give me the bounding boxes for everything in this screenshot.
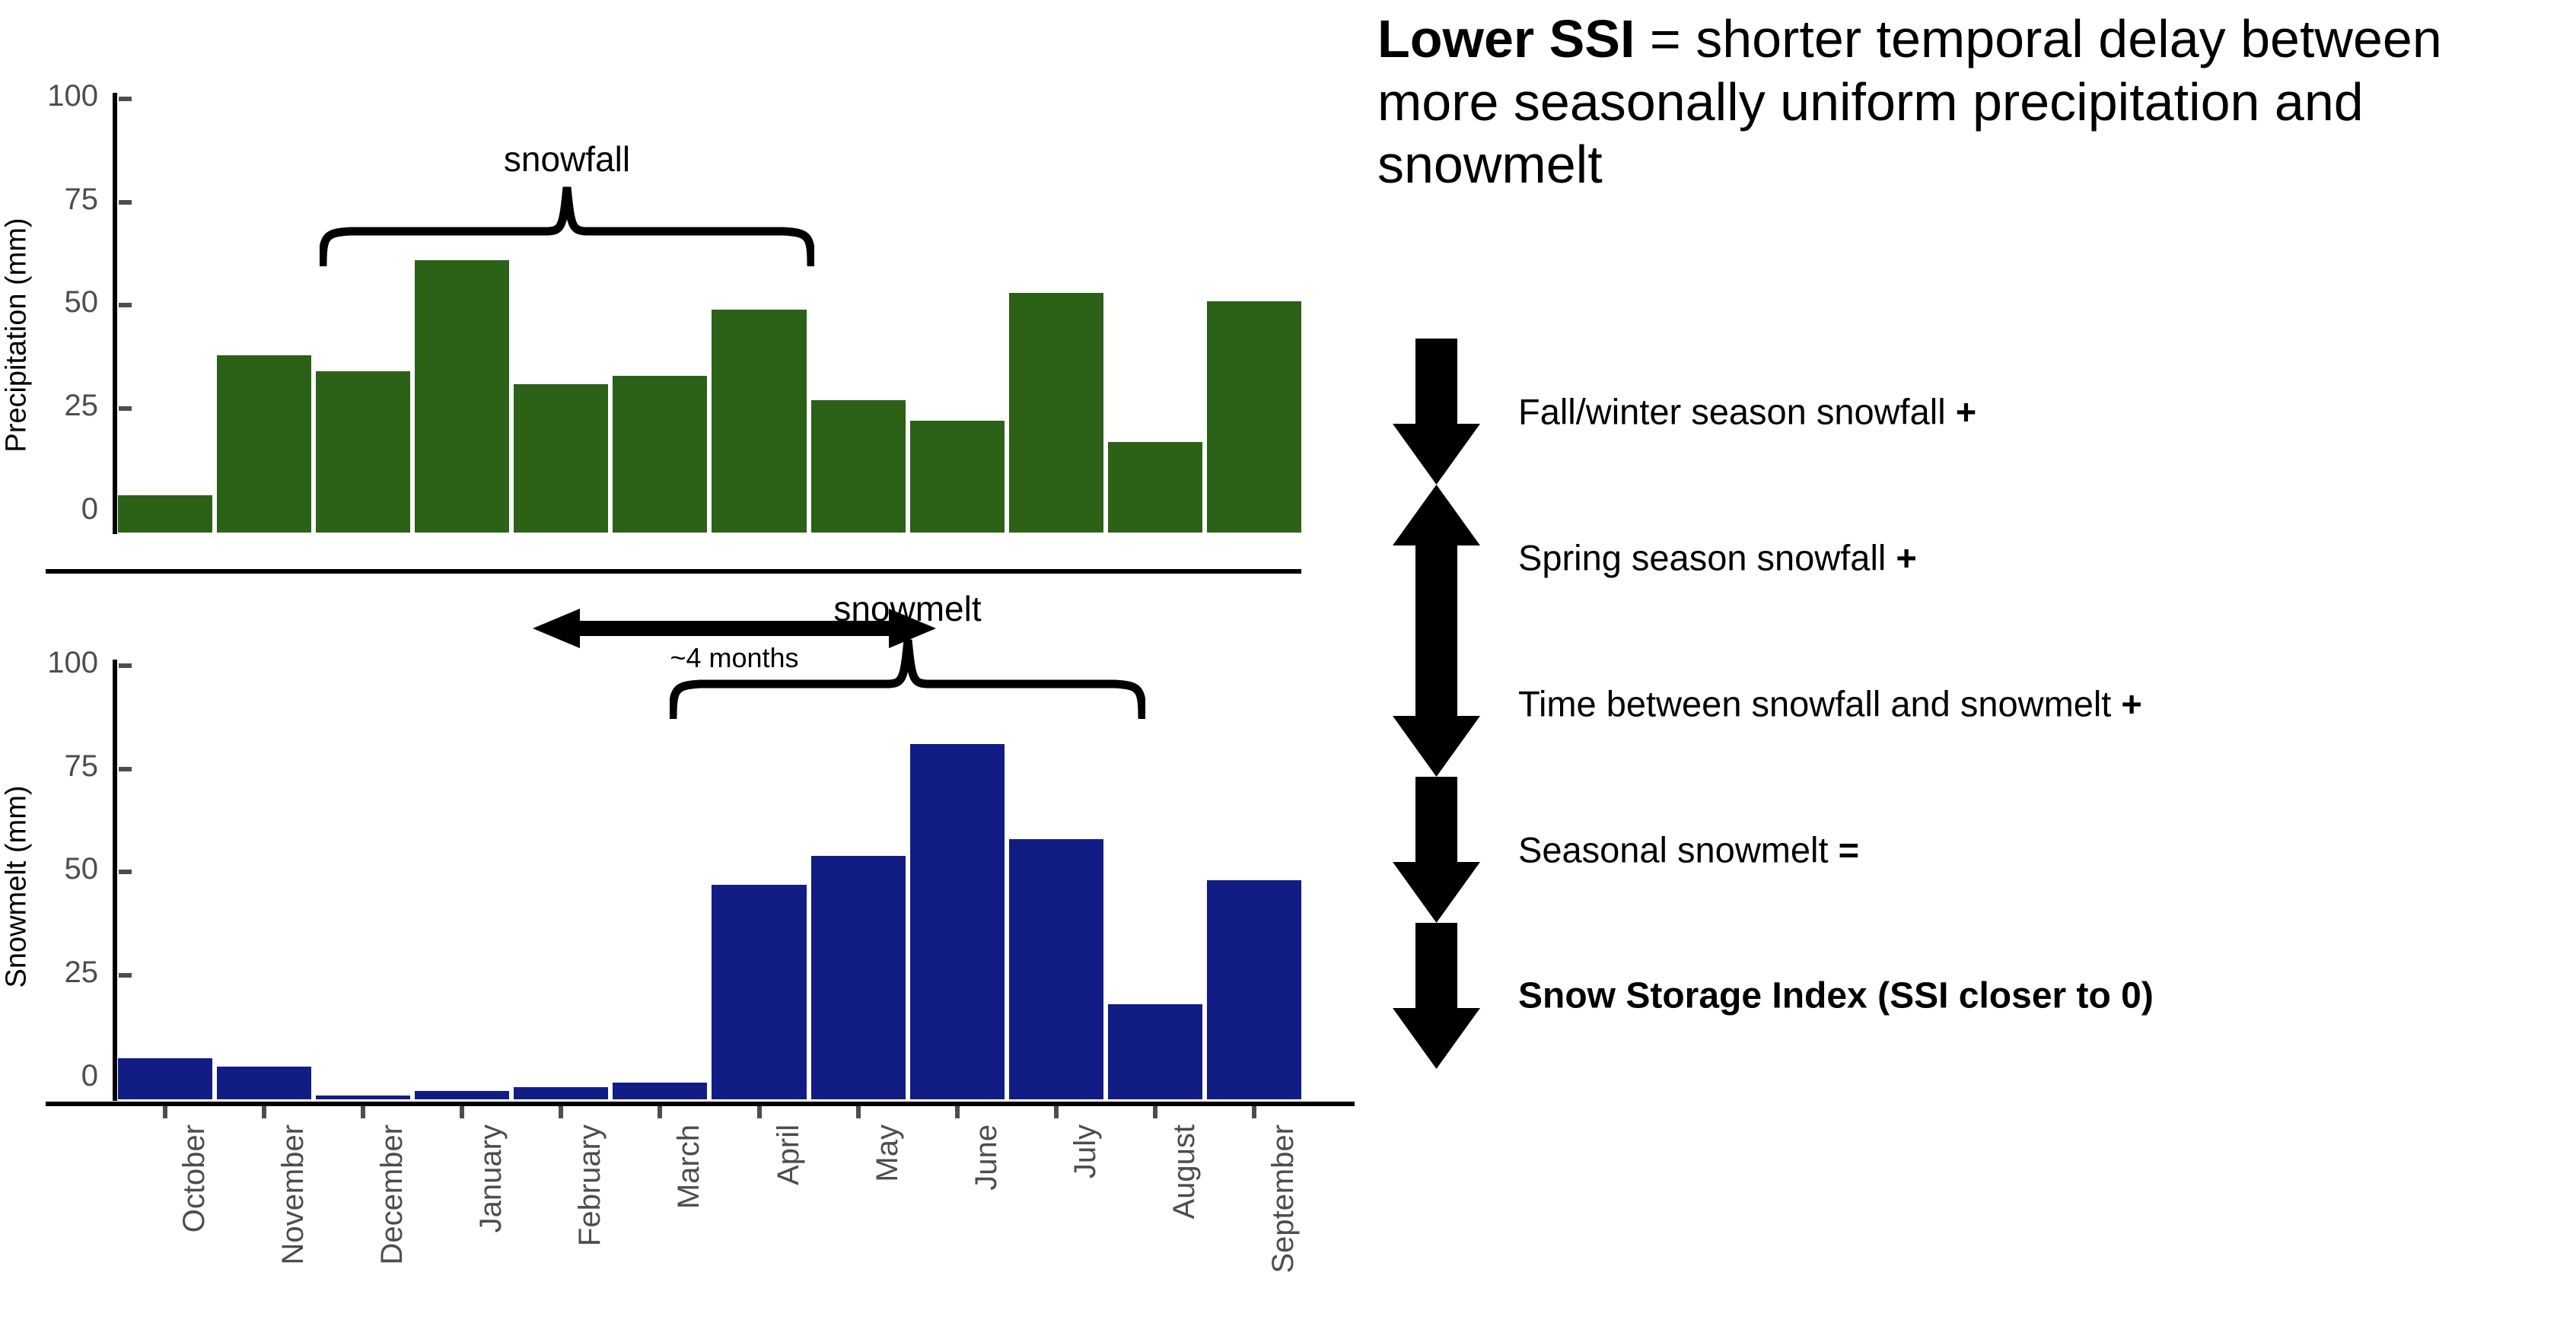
bar-may [811,856,906,1099]
bar-september [1207,301,1301,533]
tick-mark-icon [559,1106,563,1118]
arrow-down-icon [1393,777,1480,923]
xtick-april: April [712,1106,806,1319]
month-label: November [276,1124,310,1265]
bar-december [316,1096,410,1099]
arrow-down-icon [1393,339,1480,485]
bar-july [1009,293,1103,533]
ssi-step-label: Snow Storage Index (SSI closer to 0) [1518,975,2154,1017]
month-label: May [871,1124,905,1182]
snowmelt-plot-area: 100 75 50 25 0 [118,666,1301,1099]
precipitation-x-axis-line [46,569,1301,574]
brace-icon [320,183,814,266]
bar-june [910,421,1005,533]
ssi-step-operator: = [1829,830,1860,870]
tick-mark-icon [658,1106,662,1118]
bar-may [811,400,906,533]
bar-june [910,744,1005,1099]
ssi-step-5: Snow Storage Index (SSI closer to 0) [1377,923,2576,1069]
ssi-step-label: Time between snowfall and snowmelt + [1518,683,2142,725]
ssi-step-2: Spring season snowfall + [1377,485,2576,631]
xtick-march: March [613,1106,707,1319]
month-tick-row: OctoberNovemberDecemberJanuaryFebruaryMa… [118,1106,1301,1319]
bar-february [514,1087,608,1099]
snowmelt-brace-label: snowmelt [833,588,981,629]
tick-mark-icon [757,1106,762,1118]
ssi-step-3: Time between snowfall and snowmelt + [1377,631,2576,777]
xtick-june: June [910,1106,1005,1319]
month-x-axis: OctoberNovemberDecemberJanuaryFebruaryMa… [118,1102,1301,1322]
arrow-down-icon [1393,923,1480,1069]
xtick-january: January [415,1106,509,1319]
ssi-step-label: Spring season snowfall + [1518,537,1917,579]
tick-mark-icon [1153,1106,1157,1118]
bar-november [217,1067,311,1099]
xtick-may: May [811,1106,906,1319]
bar-july [1009,839,1103,1099]
tick-mark-icon [1054,1106,1059,1118]
xtick-august: August [1108,1106,1202,1319]
snowfall-brace-annotation: snowfall [320,183,814,266]
tick-mark-icon [955,1106,960,1118]
xtick-february: February [514,1106,608,1319]
bar-january [415,1091,509,1099]
snowmelt-y-axis-label: Snowmelt (mm) [1,785,33,987]
month-label: April [772,1124,806,1185]
headline-strong: Lower SSI [1377,9,1635,68]
charts-panel: Precipitation (mm) 100 75 50 25 [0,0,1355,1323]
ssi-step-4: Seasonal snowmelt = [1377,777,2576,923]
bar-february [514,384,608,533]
precipitation-plot-area: 100 75 50 25 0 [118,99,1301,533]
month-label: January [474,1124,508,1232]
tick-mark-icon [460,1106,464,1118]
xtick-october: October [118,1106,212,1319]
precipitation-y-axis-line [113,93,117,534]
arrow-up-icon [1393,485,1480,631]
xtick-november: November [217,1106,311,1319]
bar-august [1108,442,1202,533]
tick-mark-icon [1252,1106,1256,1118]
bar-december [316,371,410,533]
bar-march [613,1083,707,1099]
month-label: June [970,1124,1004,1191]
snowmelt-y-axis-line [113,660,117,1101]
ssi-step-label: Fall/winter season snowfall + [1518,391,1976,433]
brace-icon [670,635,1145,719]
tick-mark-icon [262,1106,266,1118]
bar-april [712,885,806,1099]
month-label: September [1266,1124,1301,1274]
ssi-step-operator: + [1946,392,1977,432]
tick-mark-icon [163,1106,167,1118]
bar-january [415,260,509,533]
bar-november [217,355,311,533]
ssi-steps-list: Fall/winter season snowfall +Spring seas… [1377,339,2576,1069]
bar-august [1108,1004,1202,1099]
month-label: October [177,1124,212,1232]
precipitation-y-axis-title: Precipitation (mm) [0,84,40,586]
bar-october [118,1058,212,1099]
snowmelt-bars [118,666,1301,1099]
xtick-september: September [1207,1106,1301,1319]
ssi-step-1: Fall/winter season snowfall + [1377,339,2576,485]
arrow-down-icon [1393,631,1480,777]
bar-april [712,310,806,533]
snowmelt-chart: Snowmelt (mm) 100 75 50 25 0 [0,650,1355,1122]
precipitation-bars [118,99,1301,533]
ssi-step-operator: + [2111,684,2142,724]
ssi-step-operator: + [1886,538,1917,578]
bar-october [118,495,212,533]
month-label: July [1068,1124,1103,1178]
snowmelt-y-axis-title: Snowmelt (mm) [0,650,40,1122]
tick-mark-icon [361,1106,365,1118]
xtick-july: July [1009,1106,1103,1319]
snowmelt-brace-annotation: snowmelt [670,635,1145,719]
explanation-panel: Lower SSI = shorter temporal delay betwe… [1362,0,2576,1323]
xtick-december: December [316,1106,410,1319]
precipitation-y-axis-label: Precipitation (mm) [1,218,33,452]
month-label: August [1167,1124,1202,1220]
snowfall-brace-label: snowfall [504,138,630,180]
month-label: December [375,1124,409,1265]
tick-mark-icon [856,1106,861,1118]
headline: Lower SSI = shorter temporal delay betwe… [1377,8,2576,196]
month-label: February [573,1124,607,1246]
precipitation-chart: Precipitation (mm) 100 75 50 25 [0,84,1355,586]
ssi-step-label: Seasonal snowmelt = [1518,829,1859,871]
bar-september [1207,880,1301,1099]
month-label: March [672,1124,706,1209]
bar-march [613,376,707,533]
